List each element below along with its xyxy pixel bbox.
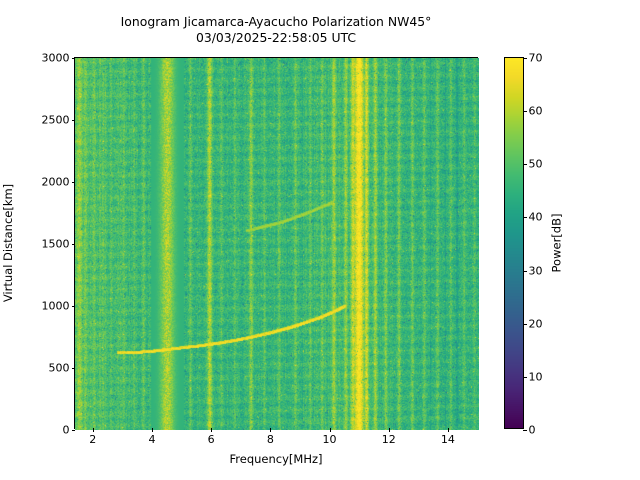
x-tick-label: 8 xyxy=(267,434,274,445)
colorbar-tick-label: 0 xyxy=(529,425,536,436)
colorbar-gradient xyxy=(505,58,523,428)
y-tick-mark xyxy=(72,244,76,245)
colorbar-label-text: Power[dB] xyxy=(549,214,563,273)
colorbar-tick-mark xyxy=(523,271,527,272)
colorbar-tick-mark xyxy=(523,430,527,431)
y-tick-label: 1000 xyxy=(42,301,70,312)
y-axis-label: Virtual Distance[km] xyxy=(0,57,16,429)
colorbar-label: Power[dB] xyxy=(548,57,564,429)
x-axis-label: Frequency[MHz] xyxy=(74,452,478,466)
y-tick-mark xyxy=(72,430,76,431)
colorbar-tick-mark xyxy=(523,58,527,59)
colorbar-tick-label: 30 xyxy=(529,265,543,276)
x-tick-mark xyxy=(152,428,153,432)
y-tick-label: 0 xyxy=(63,425,70,436)
x-tick-mark xyxy=(270,428,271,432)
x-tick-mark xyxy=(389,428,390,432)
y-tick-label: 2000 xyxy=(42,177,70,188)
y-tick-label: 2500 xyxy=(42,115,70,126)
x-tick-mark xyxy=(330,428,331,432)
y-tick-label: 3000 xyxy=(42,53,70,64)
y-tick-mark xyxy=(72,58,76,59)
plot-title: Ionogram Jicamarca-Ayacucho Polarization… xyxy=(74,14,478,45)
colorbar-tick-mark xyxy=(523,164,527,165)
colorbar-tick-mark xyxy=(523,377,527,378)
x-tick-label: 2 xyxy=(89,434,96,445)
colorbar-tick-label: 40 xyxy=(529,212,543,223)
colorbar-tick-label: 70 xyxy=(529,53,543,64)
y-tick-label: 1500 xyxy=(42,239,70,250)
colorbar-tick-mark xyxy=(523,217,527,218)
x-tick-mark xyxy=(211,428,212,432)
x-tick-label: 14 xyxy=(441,434,455,445)
y-tick-mark xyxy=(72,182,76,183)
x-tick-label: 6 xyxy=(208,434,215,445)
y-tick-label: 500 xyxy=(49,363,70,374)
x-tick-mark xyxy=(448,428,449,432)
x-tick-mark xyxy=(93,428,94,432)
colorbar-tick-mark xyxy=(523,111,527,112)
main-plot-axes[interactable]: 050010001500200025003000 2468101214 xyxy=(74,57,478,429)
colorbar-tick-label: 10 xyxy=(529,371,543,382)
colorbar-tick-label: 50 xyxy=(529,159,543,170)
colorbar-axes[interactable]: 010203040506070 xyxy=(504,57,524,429)
title-line-2: 03/03/2025-22:58:05 UTC xyxy=(196,30,356,45)
title-line-1: Ionogram Jicamarca-Ayacucho Polarization… xyxy=(121,14,432,29)
x-tick-label: 4 xyxy=(148,434,155,445)
x-tick-label: 10 xyxy=(323,434,337,445)
y-tick-mark xyxy=(72,306,76,307)
ionogram-figure: Ionogram Jicamarca-Ayacucho Polarization… xyxy=(0,0,640,480)
colorbar-tick-mark xyxy=(523,324,527,325)
y-tick-mark xyxy=(72,368,76,369)
colorbar-tick-label: 20 xyxy=(529,318,543,329)
y-tick-mark xyxy=(72,120,76,121)
y-axis-label-text: Virtual Distance[km] xyxy=(1,184,15,302)
colorbar-tick-label: 60 xyxy=(529,106,543,117)
x-tick-label: 12 xyxy=(382,434,396,445)
ionogram-heatmap[interactable] xyxy=(75,58,479,430)
